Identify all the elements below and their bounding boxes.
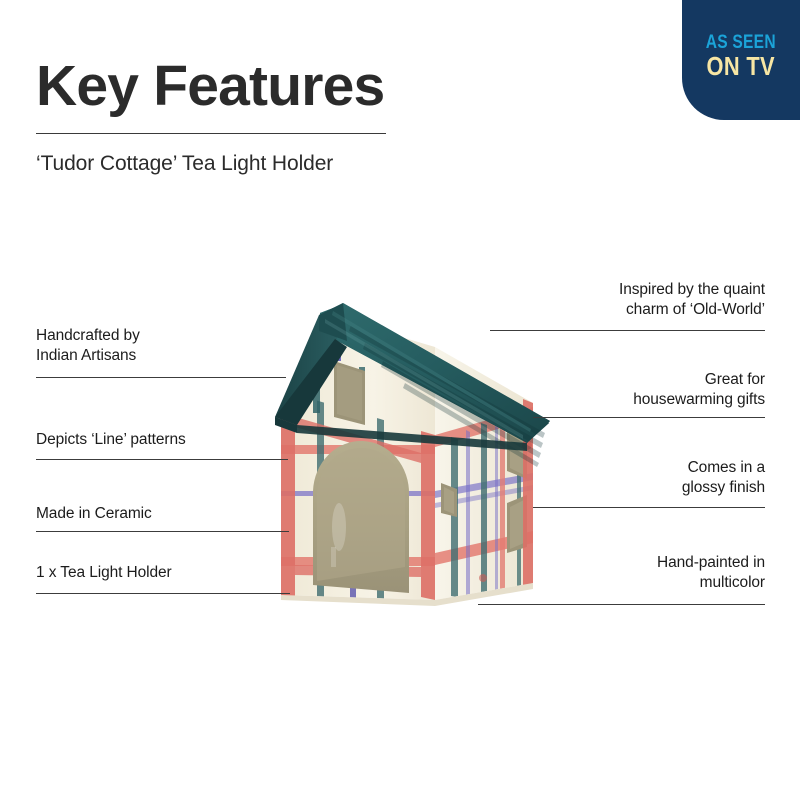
- leader-right-3: [533, 507, 765, 508]
- leader-right-1: [490, 330, 765, 331]
- feature-left-2: Depicts ‘Line’ patterns: [36, 430, 186, 450]
- leader-right-2: [533, 417, 765, 418]
- feature-right-2: Great for housewarming gifts: [633, 370, 765, 411]
- leader-left-3: [36, 531, 289, 532]
- infographic-page: AS SEEN ON TV Key Features ‘Tudor Cottag…: [0, 0, 800, 800]
- feature-left-1: Handcrafted by Indian Artisans: [36, 326, 140, 367]
- badge-line-1: AS SEEN: [706, 33, 776, 52]
- product-image: [255, 295, 555, 615]
- leader-left-2: [36, 459, 288, 460]
- page-subtitle: ‘Tudor Cottage’ Tea Light Holder: [36, 152, 333, 176]
- feature-right-1: Inspired by the quaint charm of ‘Old-Wor…: [619, 280, 765, 321]
- title-divider: [36, 133, 386, 134]
- feature-right-3: Comes in a glossy finish: [682, 458, 765, 499]
- feature-left-4: 1 x Tea Light Holder: [36, 563, 172, 583]
- feature-left-3: Made in Ceramic: [36, 504, 152, 524]
- badge-line-2: ON TV: [707, 53, 775, 80]
- leader-right-4: [478, 604, 765, 605]
- page-title: Key Features: [36, 58, 384, 115]
- feature-right-4: Hand-painted in multicolor: [657, 553, 765, 594]
- leader-left-4: [36, 593, 290, 594]
- leader-left-1: [36, 377, 286, 378]
- as-seen-on-tv-badge: AS SEEN ON TV: [682, 0, 800, 120]
